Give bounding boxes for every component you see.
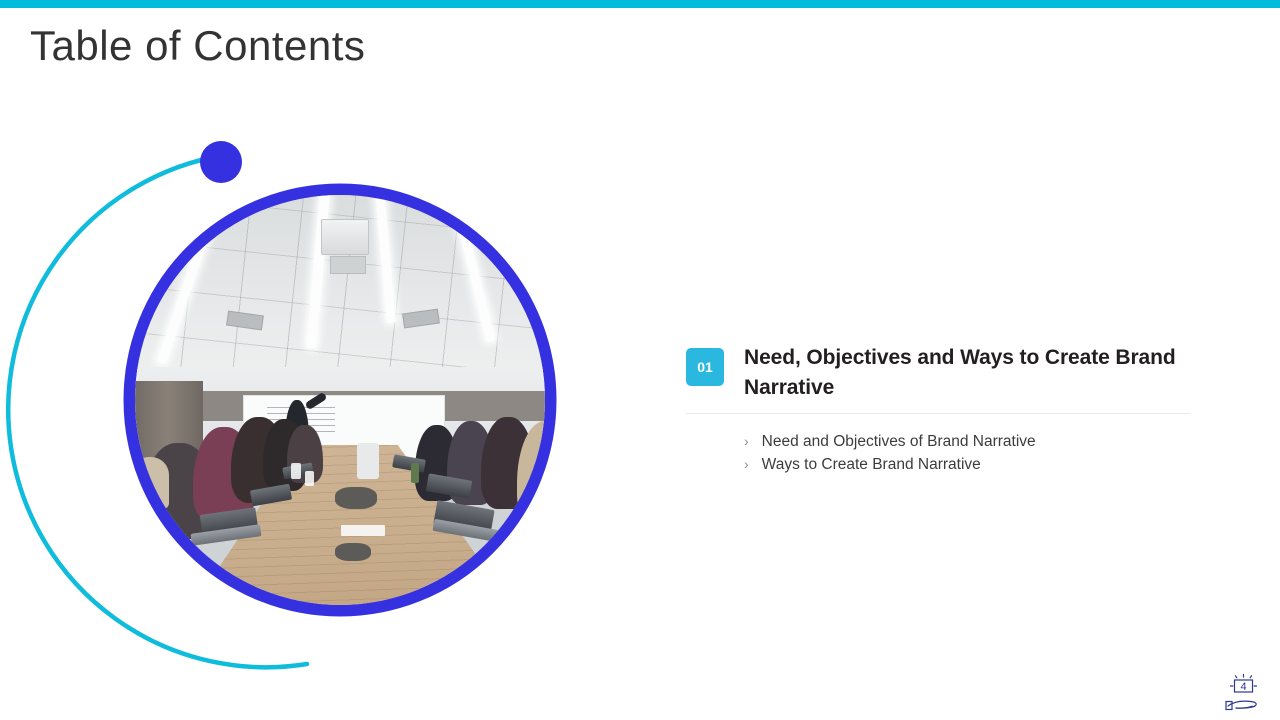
page-title: Table of Contents — [30, 22, 365, 70]
toc-entry-number-badge: 01 — [686, 348, 724, 386]
top-accent-bar — [0, 0, 1280, 8]
photo-glass-1 — [291, 463, 301, 479]
photo-table-clutter-1 — [335, 487, 377, 509]
photo-paper-sheet — [341, 525, 385, 536]
toc-sub-list: › Need and Objectives of Brand Narrative… — [686, 430, 1206, 477]
toc-entry-divider — [686, 413, 1190, 414]
toc-entry-01[interactable]: 01 Need, Objectives and Ways to Create B… — [686, 343, 1206, 477]
page-number-value: 4 — [1240, 681, 1246, 693]
toc-sub-item-label: Ways to Create Brand Narrative — [762, 453, 981, 477]
page-number-icon: 4 — [1224, 672, 1266, 714]
toc-sub-item[interactable]: › Need and Objectives of Brand Narrative — [744, 430, 1206, 454]
photo-table-clutter-2 — [335, 543, 371, 561]
photo-inner — [135, 195, 545, 605]
chevron-right-icon: › — [744, 431, 749, 452]
page-number-svg: 4 — [1224, 672, 1266, 714]
toc-entry-title: Need, Objectives and Ways to Create Bran… — [744, 343, 1206, 403]
photo-monitor — [357, 443, 379, 479]
chevron-right-icon: › — [744, 454, 749, 475]
decorative-circle-group — [35, 120, 575, 690]
photo-chair-left — [135, 457, 169, 509]
photo-bottle — [411, 463, 419, 483]
toc-sub-item-label: Need and Objectives of Brand Narrative — [762, 430, 1036, 454]
conference-room-photo — [135, 195, 545, 605]
ceiling-projector — [321, 219, 369, 255]
toc-sub-item[interactable]: › Ways to Create Brand Narrative — [744, 453, 1206, 477]
photo-glass-2 — [305, 471, 314, 486]
toc-entry-header: 01 Need, Objectives and Ways to Create B… — [686, 343, 1206, 403]
blue-accent-dot — [200, 141, 242, 183]
